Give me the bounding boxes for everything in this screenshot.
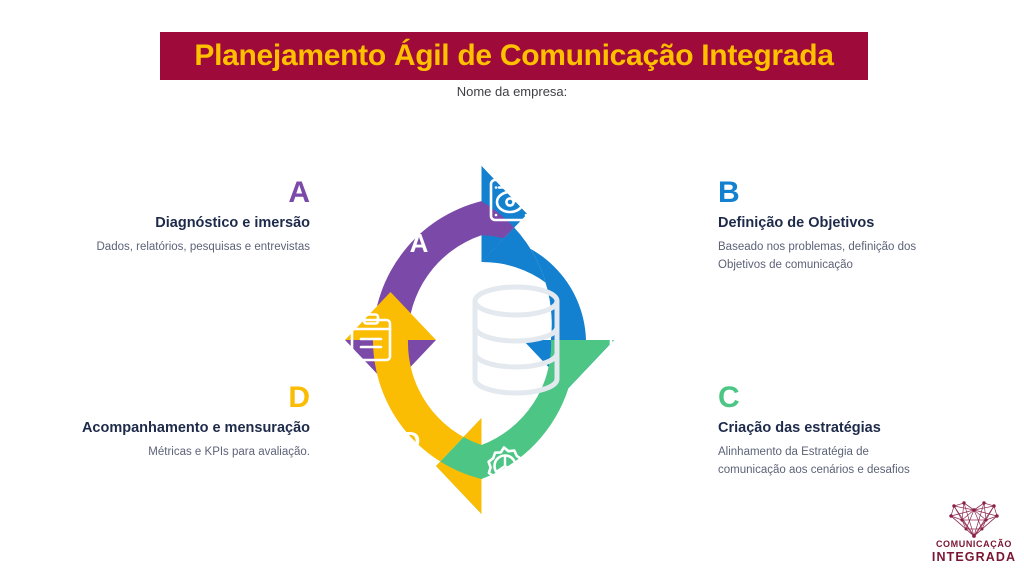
step-description-c: Alinhamento da Estratégia de comunicação… <box>718 444 998 480</box>
step-heading-b: Definição de Objetivos <box>718 214 998 232</box>
step-description-d: Métricas e KPIs para avaliação. <box>30 444 310 462</box>
step-description-b-line1: Baseado nos problemas, definição dos <box>718 239 998 257</box>
step-block-c: C Criação das estratégias Alinhamento da… <box>718 383 998 480</box>
logo-line-2: INTEGRADA <box>928 550 1020 564</box>
step-description-a: Dados, relatórios, pesquisas e entrevist… <box>60 239 310 257</box>
title-banner: Planejamento Ágil de Comunicação Integra… <box>160 32 868 80</box>
brand-logo: COMUNICAÇÃO INTEGRADA <box>928 498 1020 568</box>
step-description-b-line2: Objetivos de comunicação <box>718 257 998 275</box>
step-block-b: B Definição de Objetivos Baseado nos pro… <box>718 178 998 275</box>
step-description-b: Baseado nos problemas, definição dos Obj… <box>718 239 998 275</box>
step-heading-c: Criação das estratégias <box>718 419 998 437</box>
arrow-d-shape <box>345 292 482 514</box>
step-letter-a: A <box>60 178 310 208</box>
logo-line-1: COMUNICAÇÃO <box>928 539 1020 549</box>
heart-network-icon <box>928 498 1020 540</box>
step-letter-c: C <box>718 383 998 413</box>
step-letter-b: B <box>718 178 998 208</box>
browser-windows-icon <box>611 323 647 357</box>
step-block-d: D Acompanhamento e mensuração Métricas e… <box>30 383 310 462</box>
step-description-c-line2: comunicação aos cenários e desafios <box>718 462 998 480</box>
cycle-diagram: A B C D <box>330 152 702 528</box>
arrow-label-d: D <box>402 426 421 456</box>
cycle-arrow-d <box>345 292 482 514</box>
page-title: Planejamento Ágil de Comunicação Integra… <box>194 41 833 71</box>
company-name-label: Nome da empresa: <box>0 84 1024 99</box>
step-letter-d: D <box>30 383 310 413</box>
step-description-c-line1: Alinhamento da Estratégia de <box>718 444 998 462</box>
step-block-a: A Diagnóstico e imersão Dados, relatório… <box>60 178 310 257</box>
slide-canvas: Planejamento Ágil de Comunicação Integra… <box>0 0 1024 576</box>
arrow-label-c: C <box>593 428 612 458</box>
arrow-label-a: A <box>410 228 429 258</box>
step-heading-d: Acompanhamento e mensuração <box>30 419 310 437</box>
arrow-label-b: B <box>609 240 628 270</box>
step-heading-a: Diagnóstico e imersão <box>60 214 310 232</box>
